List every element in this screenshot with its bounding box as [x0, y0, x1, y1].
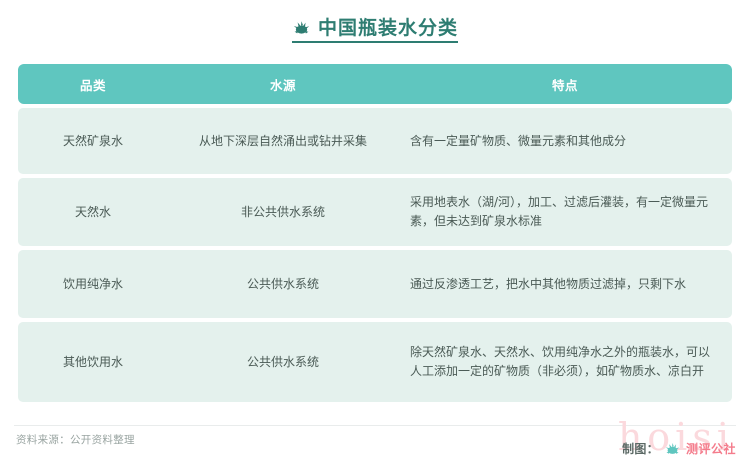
- page-title: 中国瓶装水分类: [292, 17, 458, 43]
- cell-source: 公共供水系统: [168, 353, 398, 372]
- table-row: 其他饮用水 公共供水系统 除天然矿泉水、天然水、饮用纯净水之外的瓶装水，可以人工…: [18, 322, 732, 402]
- table-row: 天然水 非公共供水系统 采用地表水（湖/河），加工、过滤后灌装，有一定微量元素，…: [18, 178, 732, 246]
- column-header-source: 水源: [168, 75, 398, 94]
- cell-feature: 含有一定量矿物质、微量元素和其他成分: [398, 132, 732, 151]
- leaf-icon: [664, 442, 681, 456]
- classification-table: 品类 水源 特点 天然矿泉水 从地下深层自然涌出或钻井采集 含有一定量矿物质、微…: [18, 64, 732, 402]
- cell-source: 非公共供水系统: [168, 203, 398, 222]
- cell-source: 公共供水系统: [168, 275, 398, 294]
- footer-divider: [14, 425, 736, 426]
- cell-category: 饮用纯净水: [18, 275, 168, 294]
- page-title-text: 中国瓶装水分类: [318, 17, 458, 39]
- source-note: 资料来源：公开资料整理: [16, 432, 135, 447]
- credit-brand: 测评公社: [686, 440, 736, 457]
- column-header-feature: 特点: [398, 75, 732, 94]
- cell-feature: 除天然矿泉水、天然水、饮用纯净水之外的瓶装水，可以人工添加一定的矿物质（非必须）…: [398, 343, 732, 381]
- leaf-icon: [292, 20, 311, 36]
- credit-label: 制图：: [622, 440, 659, 457]
- cell-feature: 采用地表水（湖/河），加工、过滤后灌装，有一定微量元素，但未达到矿泉水标准: [398, 193, 732, 231]
- column-header-category: 品类: [18, 75, 168, 94]
- table-row: 饮用纯净水 公共供水系统 通过反渗透工艺，把水中其他物质过滤掉，只剩下水: [18, 250, 732, 318]
- cell-feature: 通过反渗透工艺，把水中其他物质过滤掉，只剩下水: [398, 275, 732, 294]
- cell-category: 天然矿泉水: [18, 132, 168, 151]
- table-row: 天然矿泉水 从地下深层自然涌出或钻井采集 含有一定量矿物质、微量元素和其他成分: [18, 108, 732, 174]
- cell-category: 其他饮用水: [18, 353, 168, 372]
- page-title-bar: 中国瓶装水分类: [0, 0, 750, 43]
- cell-source: 从地下深层自然涌出或钻井采集: [168, 132, 398, 151]
- credit-block: 制图： 测评公社: [622, 440, 736, 457]
- cell-category: 天然水: [18, 203, 168, 222]
- table-header-row: 品类 水源 特点: [18, 64, 732, 104]
